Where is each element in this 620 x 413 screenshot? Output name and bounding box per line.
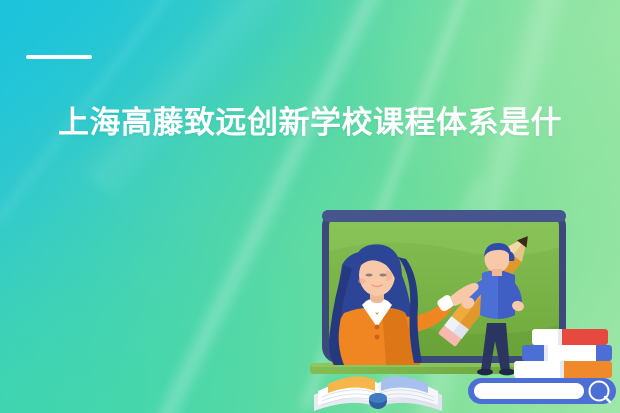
search-input	[474, 383, 584, 399]
open-book	[314, 376, 442, 411]
list-item	[532, 329, 608, 345]
cover-banner: 上海高藤致远创新学校课程体系是什	[0, 0, 620, 413]
online-learning-illustration	[282, 205, 620, 413]
list-item	[522, 345, 612, 361]
page-title: 上海高藤致远创新学校课程体系是什	[58, 100, 614, 146]
accent-rule	[26, 55, 92, 59]
list-item	[514, 361, 612, 378]
search-bar	[468, 378, 616, 404]
